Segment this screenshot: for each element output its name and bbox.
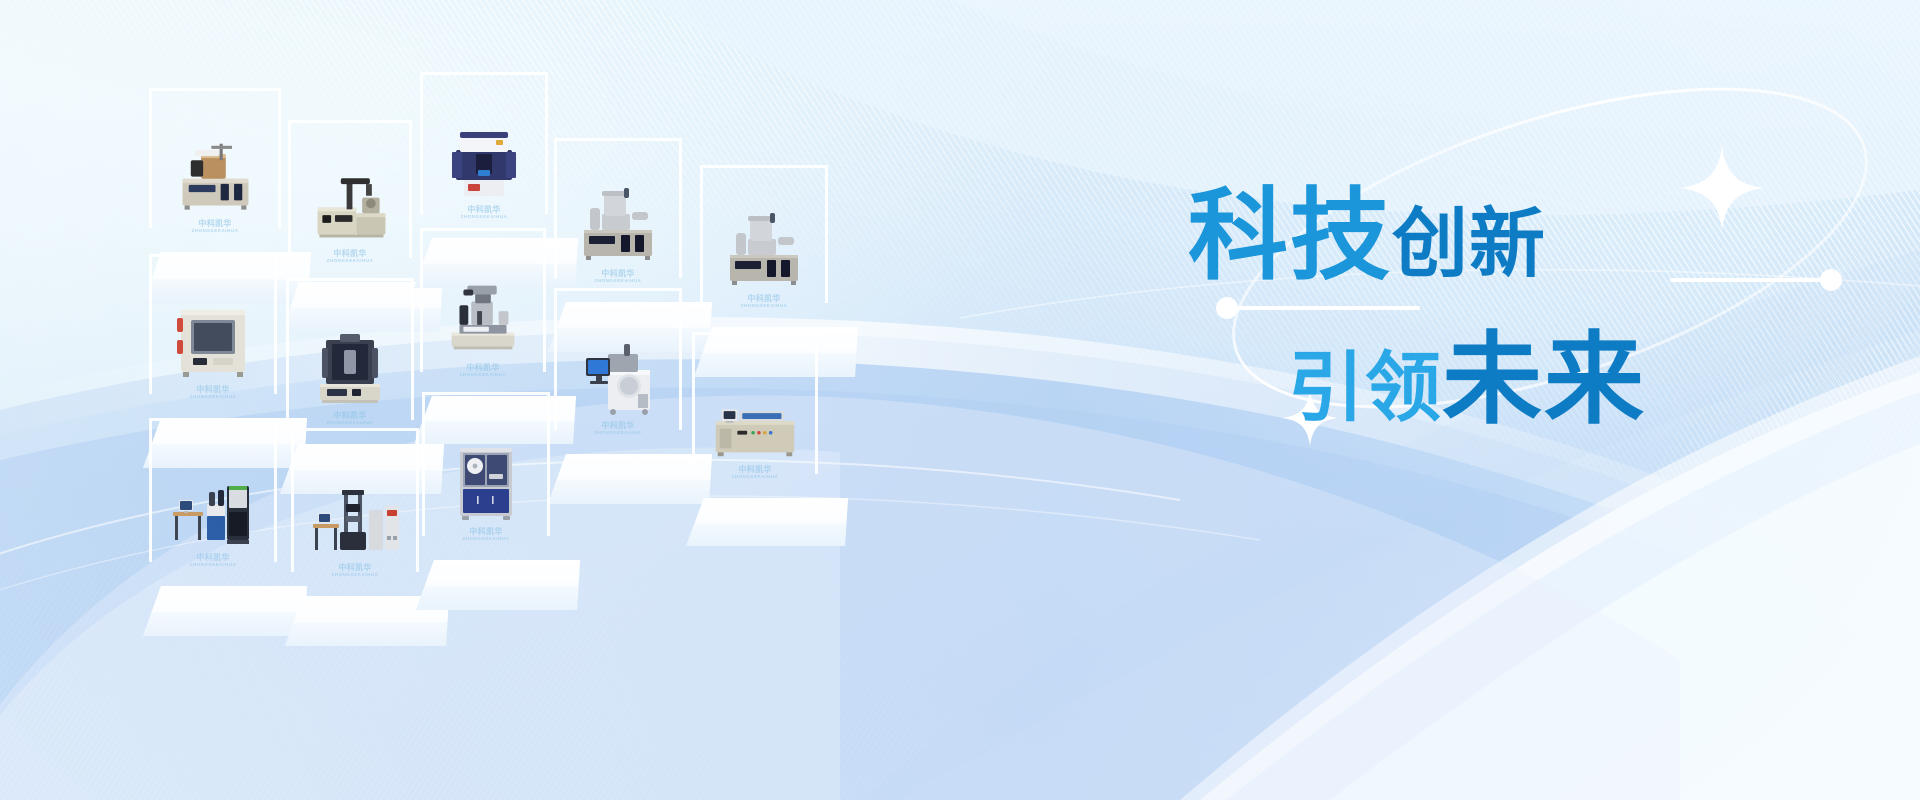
- headline-block: 科技创新 引领未来: [1160, 0, 1920, 800]
- product-watermark: 中科凯华ZHONGKEKAIHUA: [460, 364, 507, 378]
- watermark-cn: 中科凯华: [595, 422, 642, 430]
- watermark-en: ZHONGKEKAIHUA: [595, 278, 642, 284]
- watermark-en: ZHONGKEKAIHUA: [192, 228, 239, 234]
- watermark-cn: 中科凯华: [741, 295, 788, 303]
- connector-line-right: [1670, 278, 1830, 282]
- watermark-en: ZHONGKEKAIHUA: [732, 474, 779, 480]
- headline-line-2: 引领未来: [1288, 330, 1646, 430]
- product-watermark: 中科凯华ZHONGKEKAIHUA: [463, 528, 510, 542]
- watermark-en: ZHONGKEKAIHUA: [461, 214, 508, 220]
- watermark-cn: 中科凯华: [595, 270, 642, 278]
- four-point-sparkle-large: [1680, 146, 1764, 230]
- plinth-top: [416, 560, 580, 586]
- watermark-cn: 中科凯华: [192, 220, 239, 228]
- headline-word-2: 创新: [1392, 202, 1546, 287]
- headline-word-3: 引领: [1288, 346, 1442, 431]
- product-watermark: 中科凯华ZHONGKEKAIHUA: [332, 564, 379, 578]
- product-watermark: 中科凯华ZHONGKEKAIHUA: [190, 554, 237, 568]
- plinth-face: [285, 622, 449, 646]
- plinth-face: [686, 523, 848, 546]
- product-watermark: 中科凯华ZHONGKEKAIHUA: [732, 466, 779, 480]
- watermark-cn: 中科凯华: [190, 386, 237, 394]
- plinth-top: [143, 586, 307, 612]
- watermark-cn: 中科凯华: [327, 412, 374, 420]
- watermark-cn: 中科凯华: [463, 528, 510, 536]
- connector-line-left: [1230, 306, 1420, 310]
- watermark-cn: 中科凯华: [190, 554, 237, 562]
- product-podium[interactable]: 中科凯华ZHONGKEKAIHUA: [416, 392, 584, 620]
- product-plinth: [143, 586, 307, 636]
- product-image: [434, 246, 532, 366]
- watermark-cn: 中科凯华: [461, 206, 508, 214]
- watermark-en: ZHONGKEKAIHUA: [460, 372, 507, 378]
- watermark-en: ZHONGKEKAIHUA: [190, 562, 237, 568]
- product-image: [164, 106, 267, 222]
- product-podium[interactable]: 中科凯华ZHONGKEKAIHUA: [686, 332, 852, 556]
- product-image: [714, 183, 814, 297]
- product-plinth: [416, 560, 580, 610]
- product-watermark: 中科凯华ZHONGKEKAIHUA: [327, 250, 374, 264]
- hero-banner: 中科凯华ZHONGKEKAIHUA 中科凯华ZHONGKEKAIHUA 中科凯华…: [0, 0, 1920, 800]
- plinth-top: [686, 498, 848, 523]
- product-watermark: 中科凯华ZHONGKEKAIHUA: [327, 412, 374, 426]
- product-image: [163, 272, 263, 388]
- product-image: [568, 156, 668, 272]
- watermark-en: ZHONGKEKAIHUA: [741, 303, 788, 309]
- plinth-face: [416, 586, 580, 610]
- product-image: [163, 436, 263, 556]
- product-image: [302, 138, 399, 252]
- headline-line-1: 科技创新: [1188, 186, 1546, 286]
- product-image: [300, 296, 400, 414]
- watermark-cn: 中科凯华: [460, 364, 507, 372]
- product-image: [706, 350, 804, 468]
- plinth-face: [143, 612, 307, 636]
- product-watermark: 中科凯华ZHONGKEKAIHUA: [595, 270, 642, 284]
- product-image: [434, 90, 534, 208]
- headline-word-1: 科技: [1188, 180, 1392, 292]
- watermark-en: ZHONGKEKAIHUA: [327, 258, 374, 264]
- product-watermark: 中科凯华ZHONGKEKAIHUA: [190, 386, 237, 400]
- node-dot-left: [1216, 297, 1238, 319]
- watermark-cn: 中科凯华: [332, 564, 379, 572]
- product-watermark: 中科凯华ZHONGKEKAIHUA: [461, 206, 508, 220]
- watermark-en: ZHONGKEKAIHUA: [190, 394, 237, 400]
- product-watermark: 中科凯华ZHONGKEKAIHUA: [741, 295, 788, 309]
- watermark-en: ZHONGKEKAIHUA: [595, 430, 642, 436]
- watermark-cn: 中科凯华: [327, 250, 374, 258]
- product-watermark: 中科凯华ZHONGKEKAIHUA: [595, 422, 642, 436]
- watermark-cn: 中科凯华: [732, 466, 779, 474]
- product-image: [436, 410, 536, 530]
- product-plinth: [686, 498, 848, 546]
- node-dot-right: [1820, 269, 1842, 291]
- watermark-en: ZHONGKEKAIHUA: [327, 420, 374, 426]
- product-watermark: 中科凯华ZHONGKEKAIHUA: [192, 220, 239, 234]
- headline-word-4: 未来: [1442, 324, 1646, 436]
- watermark-en: ZHONGKEKAIHUA: [463, 536, 510, 542]
- product-image: [305, 446, 405, 566]
- watermark-en: ZHONGKEKAIHUA: [332, 572, 379, 578]
